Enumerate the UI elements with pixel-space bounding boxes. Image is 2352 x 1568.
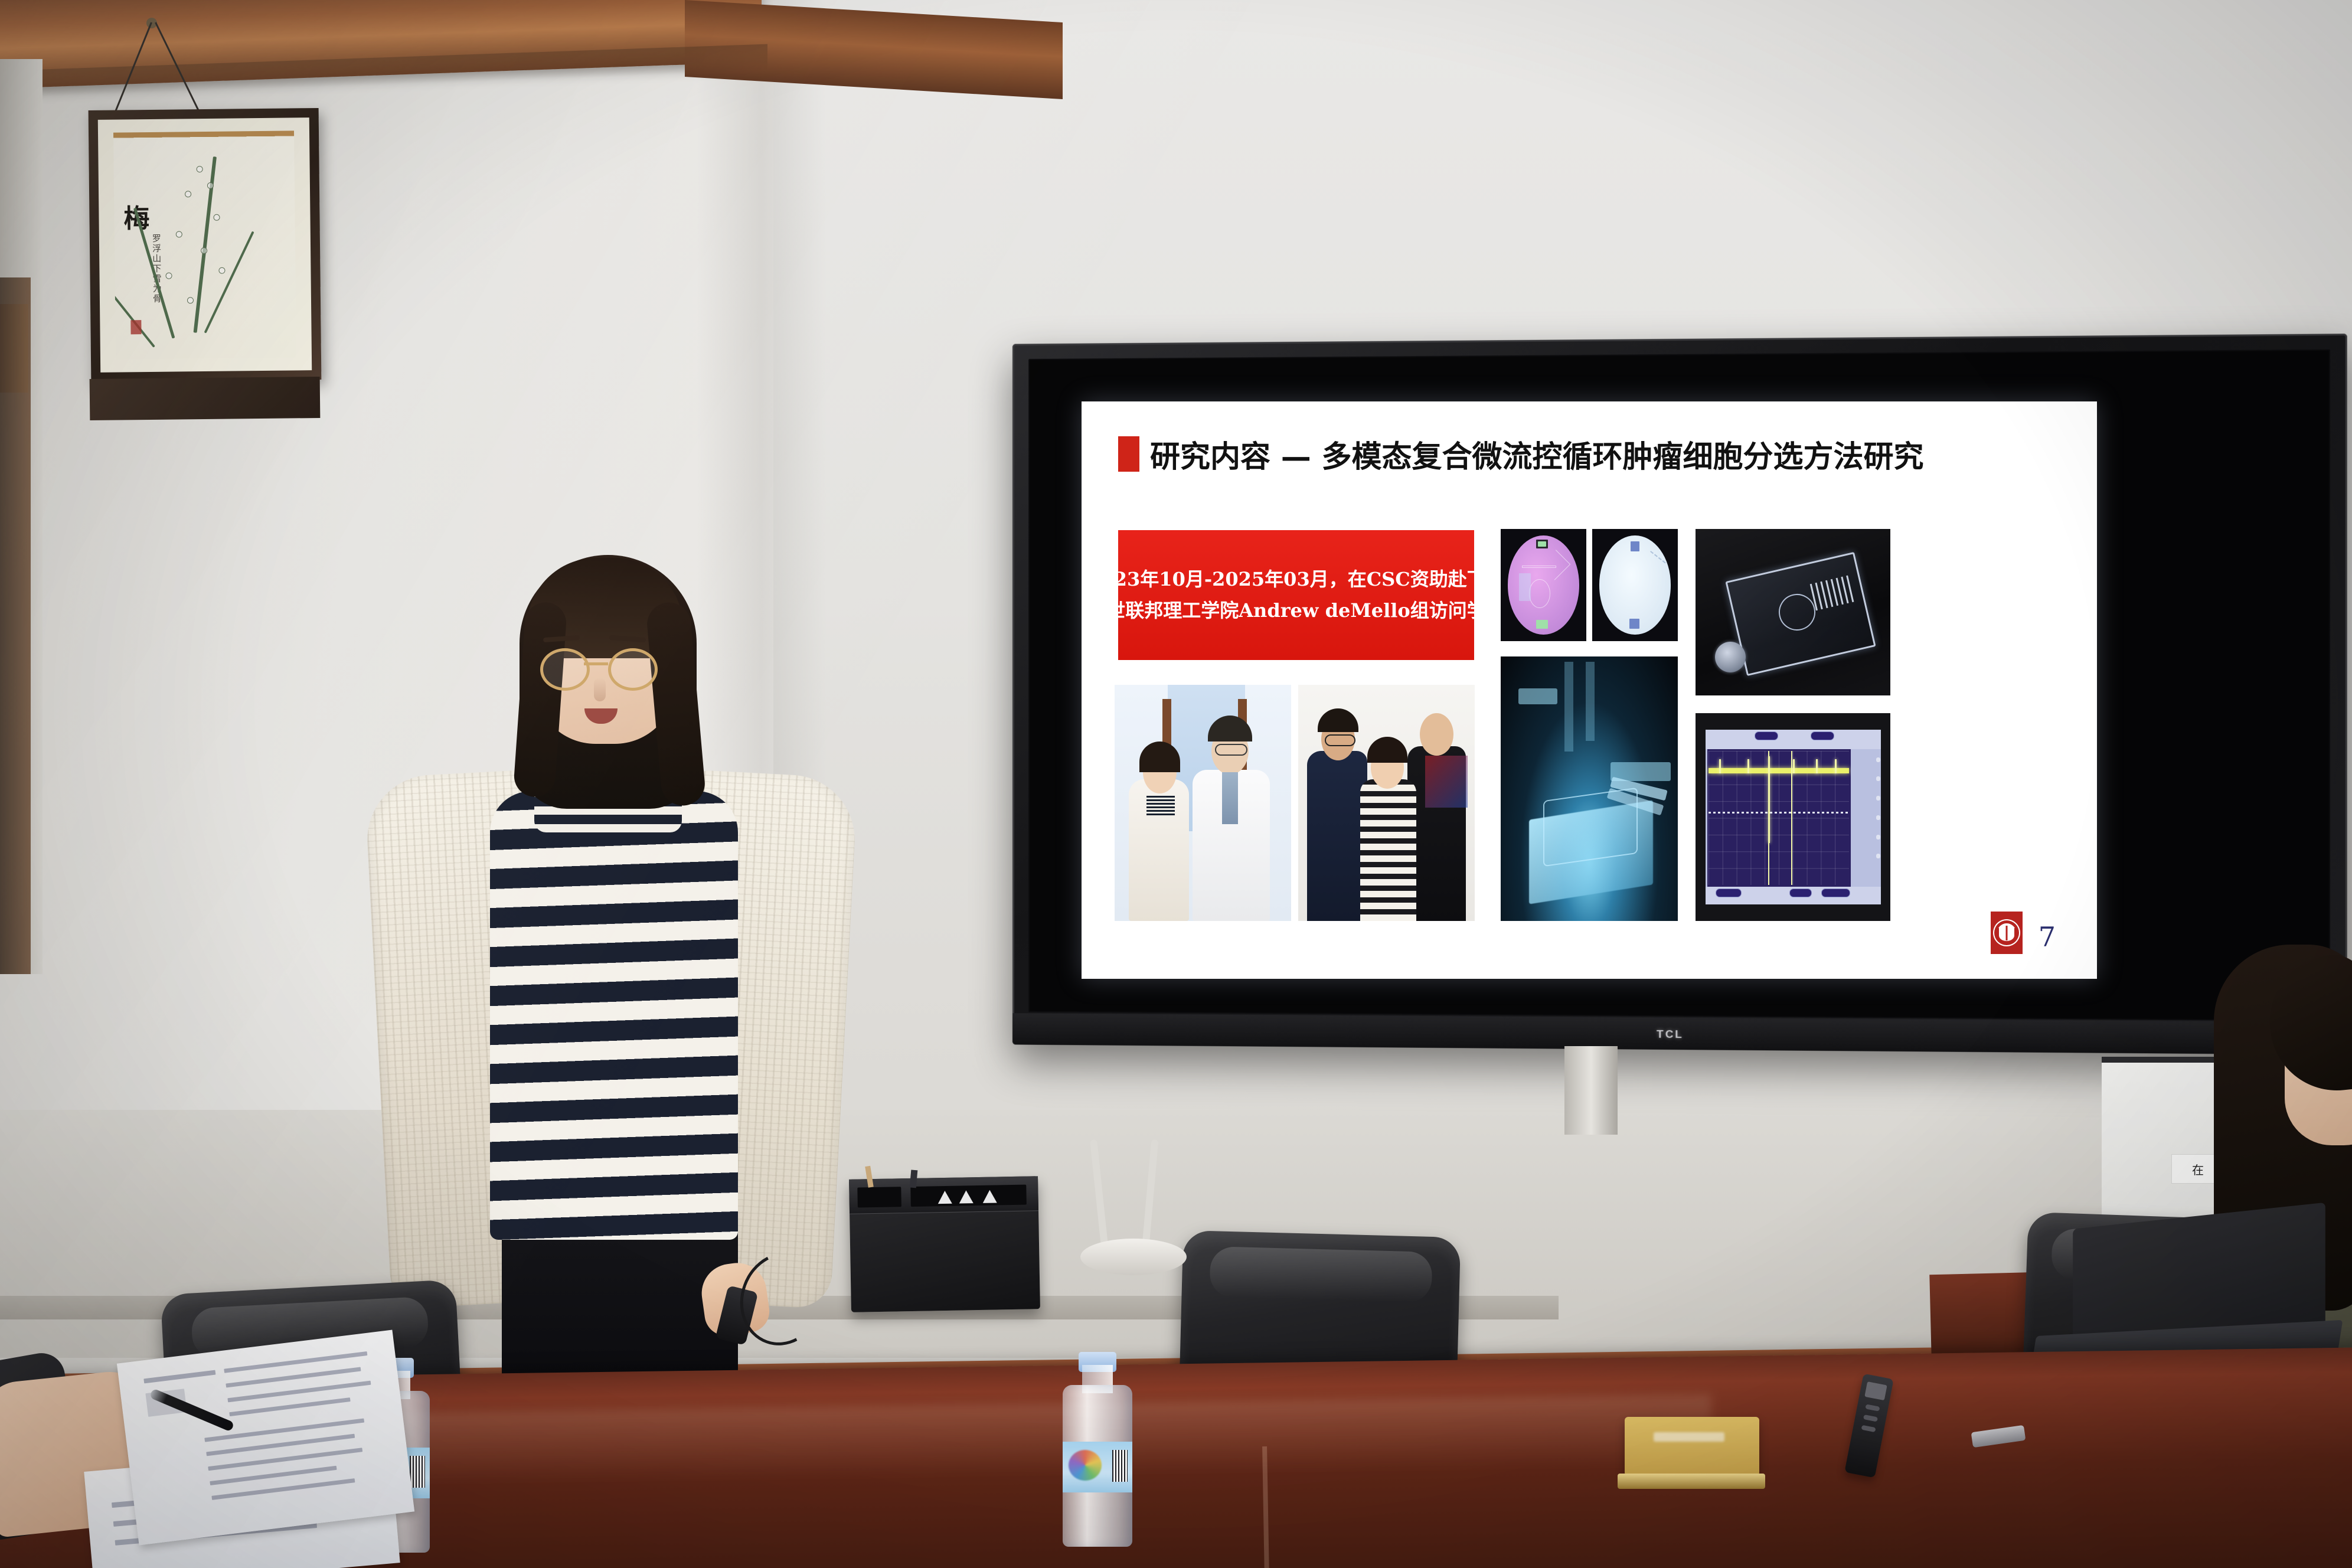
paper-cone [959, 1190, 973, 1203]
tv-wall-mount [1564, 1046, 1618, 1135]
scope-measurement-sidebar [1851, 749, 1880, 887]
wafer-images [1501, 529, 1678, 641]
paper-stand [1080, 1139, 1193, 1281]
scope-cursor-line [1709, 812, 1849, 814]
bottle-label-graphic [1069, 1450, 1102, 1481]
silicon-wafer-white [1592, 529, 1678, 641]
gold-nameplate [1618, 1417, 1765, 1494]
scope-bottom-bar [1706, 887, 1881, 904]
painting-blossom [165, 273, 172, 279]
striped-sweater [490, 791, 738, 1240]
framed-plum-blossom-painting: 梅 罗浮山下雪为骨 [89, 108, 322, 382]
pen[interactable] [910, 1170, 918, 1188]
stand-arm [1090, 1139, 1109, 1252]
red-callout-banner: 2023年10月-2025年03月，在CSC资助赴下苏 黎世联邦理工学院Andr… [1118, 530, 1474, 660]
seal-ring [1994, 920, 2019, 945]
eyeglasses-left-lens [540, 648, 590, 691]
painting-branch [204, 231, 254, 333]
painting-blossom [185, 191, 191, 197]
paper-cone [937, 1191, 952, 1204]
page-title: 研究内容 — 多模态复合微流控循环肿瘤细胞分选方法研究 [1150, 432, 1924, 476]
desk-organizer[interactable] [849, 1176, 1040, 1312]
university-seal-logo [1991, 912, 2023, 954]
tv-brand-logo: TCL [1657, 1028, 1684, 1041]
oscilloscope-signal-trace [1696, 713, 1890, 921]
bottle-barcode [1112, 1450, 1128, 1482]
water-bottle[interactable] [1063, 1352, 1132, 1547]
nameplate-stand [1618, 1474, 1765, 1489]
banner-line-1: 2023年10月-2025年03月，在CSC资助赴下苏 [1087, 564, 1505, 595]
painting-silk: 梅 罗浮山下雪为骨 [113, 130, 296, 359]
painting-blossom [176, 231, 182, 237]
slide-title-row: 研究内容 — 多模态复合微流控循环肿瘤细胞分选方法研究 [1118, 432, 1924, 476]
presentation-slide[interactable]: 研究内容 — 多模态复合微流控循环肿瘤细胞分选方法研究 2023年10月-202… [1082, 401, 2097, 979]
painting-blossom [197, 166, 203, 172]
wafer-disc [1508, 535, 1580, 634]
photo-with-research-group [1298, 685, 1475, 921]
painting-blossom [187, 297, 194, 303]
left-wall-panel [0, 304, 28, 393]
coin-scale-reference [1715, 642, 1746, 672]
group-photos [1115, 685, 1475, 921]
slide-page-number: 7 [2039, 923, 2056, 950]
remote-display [1864, 1381, 1887, 1400]
painting-mat: 梅 罗浮山下雪为骨 [98, 117, 312, 373]
title-accent-bar [1118, 436, 1139, 472]
painting-branch [194, 156, 217, 333]
eyeglasses-right-lens [608, 648, 658, 691]
painting-blossom [213, 214, 220, 221]
painting-frame-bottom [90, 377, 321, 420]
painting-blossom [218, 267, 225, 274]
painting-blossom [201, 247, 207, 254]
nameplate-card [1625, 1417, 1759, 1476]
oscilloscope-screen [1706, 730, 1881, 904]
document-page[interactable] [117, 1330, 414, 1546]
banner-line-2: 黎世联邦理工学院Andrew deMello组访问学习 [1087, 595, 1505, 626]
paper-cone [982, 1190, 997, 1203]
scope-top-bar [1706, 730, 1881, 749]
wafer-disc [1599, 535, 1671, 634]
microfluidic-chip-with-coin [1696, 529, 1890, 695]
bottle-label [1063, 1442, 1132, 1492]
stand-base [1080, 1239, 1187, 1275]
conference-room-scene: 梅 罗浮山下雪为骨 TCL [0, 0, 2352, 1568]
presenter-nose [594, 678, 606, 701]
nameplate-text [1654, 1432, 1724, 1442]
painting-blossom [207, 182, 214, 189]
scope-waveform [1709, 768, 1849, 773]
photo-with-professor [1115, 685, 1291, 921]
bottle-barcode [410, 1456, 425, 1488]
microfluidic-chip-optical-setup [1501, 656, 1678, 921]
organizer-tray [849, 1176, 1038, 1214]
stand-arm [1142, 1139, 1159, 1252]
painting-red-seal [130, 320, 141, 334]
eyeglasses-bridge [584, 662, 608, 665]
silicon-wafer-pink [1501, 529, 1586, 641]
